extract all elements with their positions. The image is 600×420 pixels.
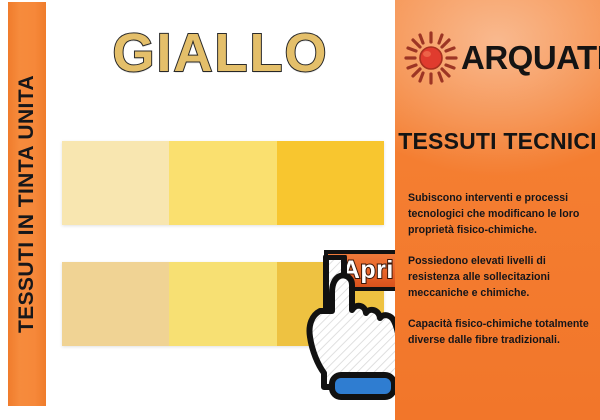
paragraph-2: Possiedono elevati livelli di resistenza… bbox=[408, 253, 594, 301]
sun-starburst-icon bbox=[403, 30, 459, 86]
brand-lockup: ARQUATI® bbox=[403, 26, 593, 90]
swatch-cream[interactable] bbox=[62, 141, 169, 225]
body-copy: Subiscono interventi e processi tecnolog… bbox=[408, 190, 594, 348]
poster-page: TESSUTI IN TINTA UNITA GIALLO Apri ! bbox=[0, 0, 600, 420]
paragraph-3: Capacità fisico-chimiche totalmente dive… bbox=[408, 316, 594, 348]
page-title: GIALLO bbox=[46, 22, 395, 84]
section-heading: TESSUTI TECNICI bbox=[395, 128, 600, 155]
center-panel: GIALLO Apri ! bbox=[46, 0, 395, 420]
brand-name: ARQUATI® bbox=[461, 39, 600, 77]
swatch-sand[interactable] bbox=[62, 262, 169, 346]
right-info-panel: ARQUATI® TESSUTI TECNICI Subiscono inter… bbox=[395, 0, 600, 420]
left-banner-label: TESSUTI IN TINTA UNITA bbox=[15, 75, 39, 333]
swatch-golden-yellow[interactable] bbox=[277, 141, 384, 225]
left-vertical-banner: TESSUTI IN TINTA UNITA bbox=[8, 2, 46, 406]
swatch-light-yellow[interactable] bbox=[169, 141, 276, 225]
swatch-butter[interactable] bbox=[169, 262, 276, 346]
paragraph-1: Subiscono interventi e processi tecnolog… bbox=[408, 190, 594, 238]
swatch-row-top bbox=[62, 141, 384, 225]
brand-name-text: ARQUATI bbox=[461, 39, 600, 76]
